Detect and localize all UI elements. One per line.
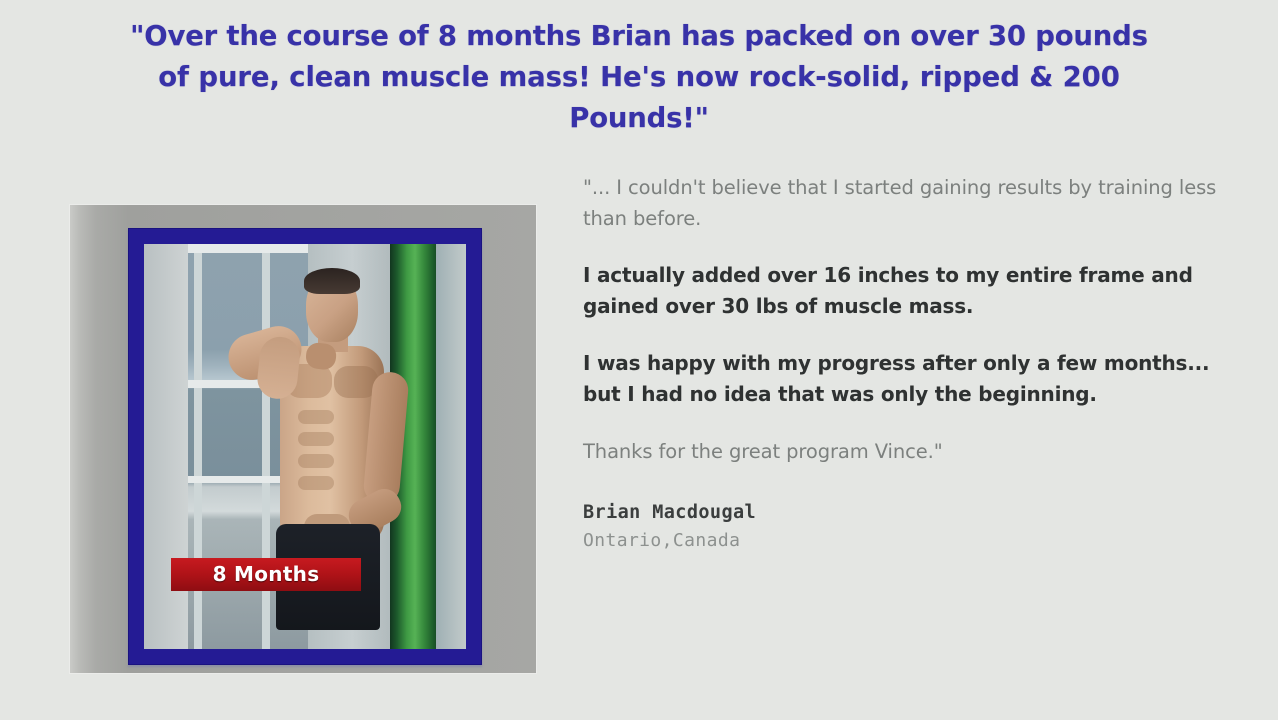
headline-line-3: Pounds!"	[28, 98, 1250, 139]
testimonial-text: "... I couldn't believe that I started g…	[583, 172, 1243, 554]
testimonial-paragraph-2: I actually added over 16 inches to my en…	[583, 260, 1243, 322]
signature-location: Ontario,Canada	[583, 527, 1243, 554]
signature-block: Brian Macdougal Ontario,Canada	[583, 499, 1243, 554]
person-abs-4	[298, 476, 334, 490]
photo-frame: 8 Months	[128, 228, 482, 665]
window-frame-top	[188, 244, 310, 253]
person-abs-3	[298, 454, 334, 468]
person-abs-1	[298, 410, 334, 424]
person-arm-flexed	[223, 321, 307, 386]
photo-panel: 8 Months	[70, 205, 536, 673]
testimonial-paragraph-3: I was happy with my progress after only …	[583, 348, 1243, 410]
headline-line-2: of pure, clean muscle mass! He's now roc…	[28, 57, 1250, 98]
duration-badge: 8 Months	[171, 558, 361, 591]
testimonial-paragraph-4: Thanks for the great program Vince."	[583, 436, 1243, 467]
photo-wall-right	[436, 244, 466, 649]
testimonial-paragraph-1: "... I couldn't believe that I started g…	[583, 172, 1243, 234]
headline-line-1: "Over the course of 8 months Brian has p…	[28, 16, 1250, 57]
signature-name: Brian Macdougal	[583, 499, 1243, 527]
person-hair	[304, 268, 360, 294]
person-abs-2	[298, 432, 334, 446]
transformation-photo: 8 Months	[144, 244, 466, 649]
testimonial-page: "Over the course of 8 months Brian has p…	[0, 0, 1278, 720]
page-title: "Over the course of 8 months Brian has p…	[28, 16, 1250, 139]
